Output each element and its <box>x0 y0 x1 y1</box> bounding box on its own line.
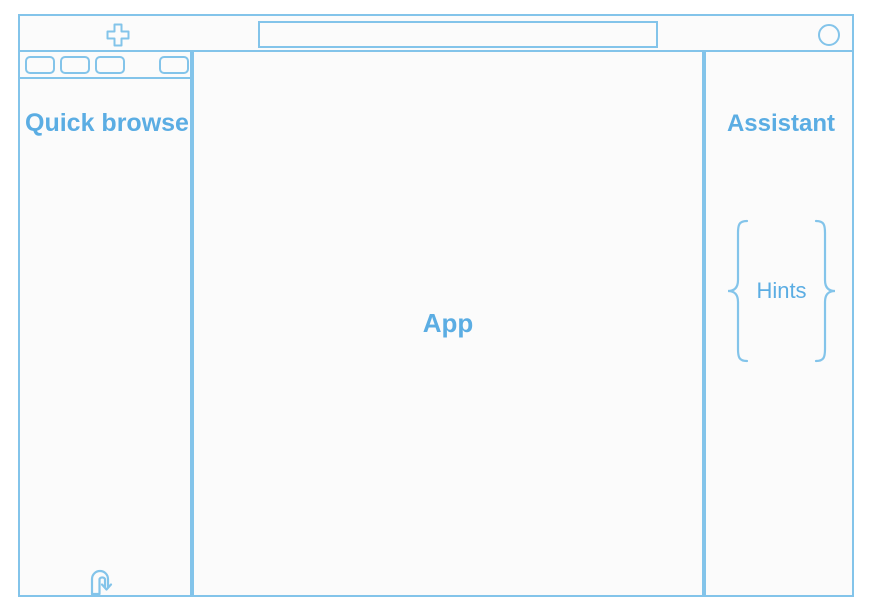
browser-chrome-bar <box>18 14 854 52</box>
tab-1[interactable] <box>25 56 55 74</box>
tab-2[interactable] <box>60 56 90 74</box>
profile-circle-icon[interactable] <box>818 24 840 46</box>
plus-icon <box>105 22 131 48</box>
sidebar-title: Quick browse <box>20 108 194 140</box>
assistant-title: Assistant <box>706 109 856 139</box>
tab-3[interactable] <box>95 56 125 74</box>
app-title: App <box>423 307 474 340</box>
assistant-panel: Assistant Hints <box>704 52 854 597</box>
hints-block: Hints <box>716 218 847 364</box>
u-turn-arrow-icon[interactable] <box>87 566 119 596</box>
open-brace-icon <box>725 218 751 364</box>
app-content-panel: App <box>192 52 704 597</box>
hints-label: Hints <box>751 278 811 304</box>
tab-strip <box>18 52 192 79</box>
address-input[interactable] <box>258 21 658 48</box>
quick-browse-sidebar: Quick browse <box>18 79 192 597</box>
new-tab-button[interactable] <box>98 21 138 49</box>
browser-window: Quick browse App Assistant Hints <box>18 14 854 597</box>
close-brace-icon <box>812 218 838 364</box>
tab-action[interactable] <box>159 56 189 74</box>
